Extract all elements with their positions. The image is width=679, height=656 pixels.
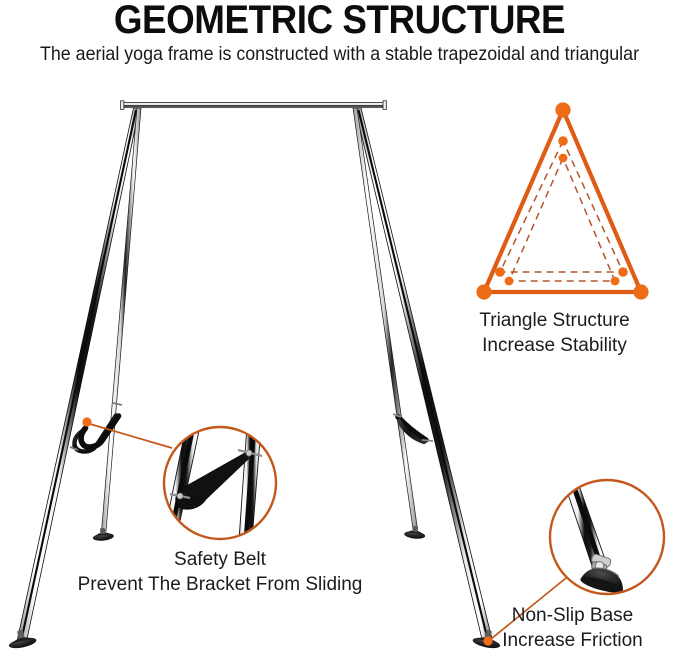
caption-belt-line1: Safety Belt bbox=[174, 549, 266, 570]
caption-non-slip-base: Non-Slip Base Increase Friction bbox=[466, 603, 679, 653]
triangle-vertex-dots bbox=[476, 102, 648, 299]
caption-triangle-line2: Increase Stability bbox=[430, 333, 679, 358]
infographic-canvas: GEOMETRIC STRUCTURE The aerial yoga fram… bbox=[0, 0, 679, 656]
caption-triangle-structure: Triangle Structure Increase Stability bbox=[430, 308, 679, 358]
caption-base-line1: Non-Slip Base bbox=[512, 605, 633, 626]
safety-belt-anchor-dot bbox=[82, 417, 91, 426]
caption-base-line2: Increase Friction bbox=[466, 628, 679, 653]
triangle-structure-diagram bbox=[476, 102, 648, 299]
caption-belt-line2: Prevent The Bracket From Sliding bbox=[30, 572, 410, 597]
caption-triangle-line1: Triangle Structure bbox=[479, 310, 629, 331]
caption-safety-belt: Safety Belt Prevent The Bracket From Sli… bbox=[30, 547, 410, 597]
top-bar bbox=[121, 101, 387, 110]
